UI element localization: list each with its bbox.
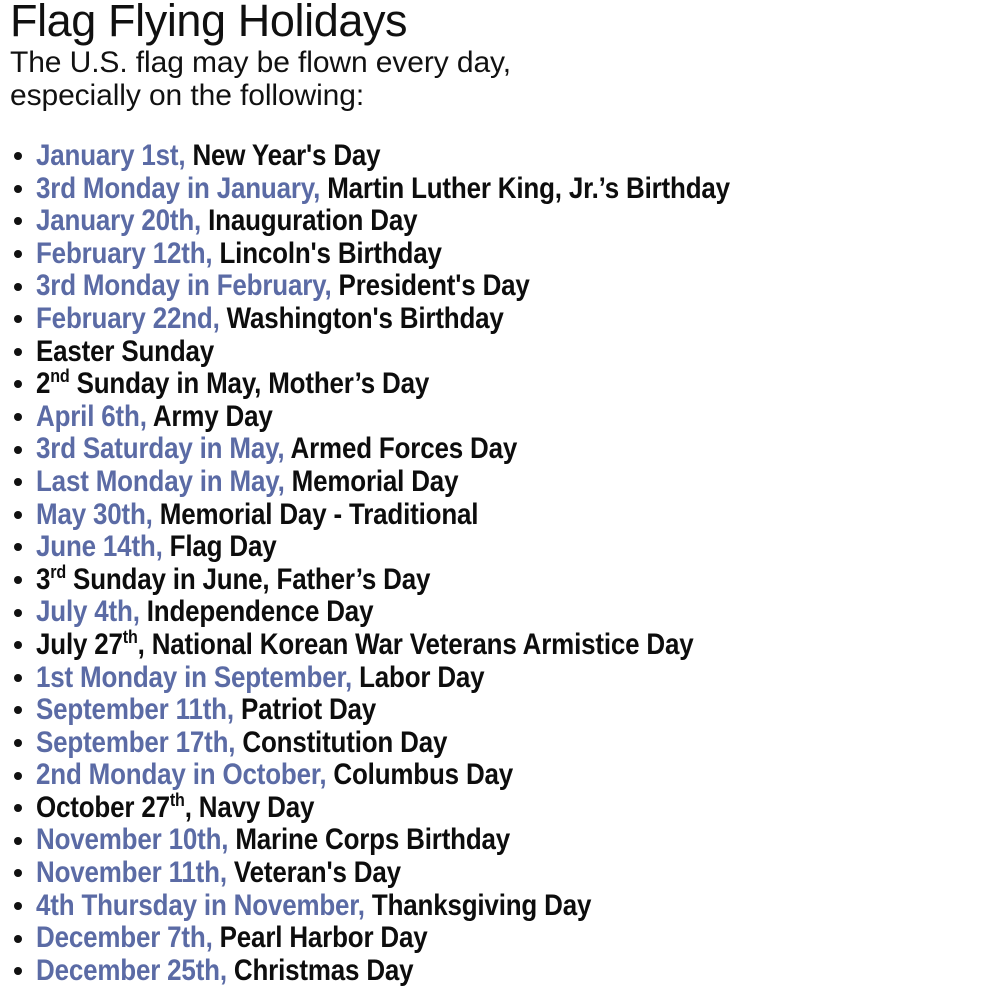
holiday-name: Washington's Birthday: [227, 302, 504, 335]
holiday-date: July 4th,: [36, 595, 140, 628]
bullet-icon: [14, 935, 22, 943]
bullet-icon: [14, 413, 22, 421]
holiday-name: Army Day: [153, 400, 273, 433]
bullet-icon: [14, 609, 22, 617]
bullet-icon: [14, 641, 22, 649]
list-item: 2nd Monday in October, Columbus Day: [10, 759, 1000, 792]
holiday-date-prefix: 3: [36, 563, 50, 596]
bullet-icon: [14, 804, 22, 812]
holiday-name: Thanksgiving Day: [372, 889, 591, 922]
subtitle-line-1: The U.S. flag may be flown every day,: [10, 46, 990, 79]
holiday-date: September 11th,: [36, 693, 234, 726]
list-item-text: 3rd Monday in February, President's Day: [36, 270, 530, 303]
list-item: June 14th, Flag Day: [10, 531, 1000, 564]
list-item: 3rd Sunday in June, Father’s Day: [10, 564, 1000, 597]
list-item: December 7th, Pearl Harbor Day: [10, 922, 1000, 955]
list-item-text: 3rd Saturday in May, Armed Forces Day: [36, 433, 517, 466]
list-item-text: October 27th, Navy Day: [36, 792, 314, 825]
holiday-name: Martin Luther King, Jr.’s Birthday: [327, 172, 730, 205]
holiday-name: Independence Day: [147, 595, 374, 628]
list-item-text: November 10th, Marine Corps Birthday: [36, 824, 510, 857]
list-item: February 22nd, Washington's Birthday: [10, 303, 1000, 336]
list-item-text: November 11th, Veteran's Day: [36, 857, 401, 890]
holiday-date: September 17th,: [36, 726, 235, 759]
list-item-text: January 1st, New Year's Day: [36, 140, 380, 173]
bullet-icon: [14, 706, 22, 714]
list-item-text: 1st Monday in September, Labor Day: [36, 662, 484, 695]
holiday-date: April 6th,: [36, 400, 147, 433]
holiday-name: Sunday in June, Father’s Day: [66, 563, 430, 596]
list-item-text: 2nd Sunday in May, Mother’s Day: [36, 368, 429, 401]
list-item: 3rd Monday in February, President's Day: [10, 270, 1000, 303]
bullet-icon: [14, 739, 22, 747]
list-item: November 11th, Veteran's Day: [10, 857, 1000, 890]
holiday-date: 3rd Saturday in May,: [36, 432, 284, 465]
holiday-date: November 10th,: [36, 823, 228, 856]
bullet-icon: [14, 869, 22, 877]
holiday-name: Labor Day: [359, 661, 484, 694]
holiday-list: January 1st, New Year's Day3rd Monday in…: [10, 140, 1000, 987]
bullet-icon: [14, 576, 22, 584]
bullet-icon: [14, 902, 22, 910]
list-item: September 11th, Patriot Day: [10, 694, 1000, 727]
holiday-date: February 22nd,: [36, 302, 220, 335]
list-item: Last Monday in May, Memorial Day: [10, 466, 1000, 499]
bullet-icon: [14, 772, 22, 780]
holiday-date: February 12th,: [36, 237, 212, 270]
list-item-text: December 7th, Pearl Harbor Day: [36, 922, 428, 955]
list-item: September 17th, Constitution Day: [10, 727, 1000, 760]
holiday-date: January 1st,: [36, 139, 185, 172]
list-item: 1st Monday in September, Labor Day: [10, 662, 1000, 695]
holiday-name: , National Korean War Veterans Armistice…: [138, 628, 694, 661]
holiday-name: Veteran's Day: [234, 856, 401, 889]
bullet-icon: [14, 446, 22, 454]
bullet-icon: [14, 283, 22, 291]
holiday-date: June 14th,: [36, 530, 163, 563]
holiday-name: Sunday in May, Mother’s Day: [70, 367, 430, 400]
list-item-text: February 22nd, Washington's Birthday: [36, 303, 504, 336]
list-item: 2nd Sunday in May, Mother’s Day: [10, 368, 1000, 401]
list-item: 4th Thursday in November, Thanksgiving D…: [10, 890, 1000, 923]
holiday-name: Armed Forces Day: [291, 432, 518, 465]
list-item: July 27th, National Korean War Veterans …: [10, 629, 1000, 662]
list-item-text: April 6th, Army Day: [36, 401, 273, 434]
ordinal-superscript: rd: [50, 561, 66, 582]
holiday-date-prefix: July 27: [36, 628, 123, 661]
holiday-name: , Navy Day: [185, 791, 315, 824]
document-page: Flag Flying Holidays The U.S. flag may b…: [0, 0, 1000, 1000]
ordinal-superscript: th: [123, 626, 138, 647]
holiday-date: 3rd Monday in February,: [36, 269, 332, 302]
list-item: December 25th, Christmas Day: [10, 955, 1000, 988]
holiday-date: November 11th,: [36, 856, 227, 889]
holiday-name: Flag Day: [170, 530, 277, 563]
holiday-date: 2nd Monday in October,: [36, 758, 326, 791]
list-item-text: September 11th, Patriot Day: [36, 694, 376, 727]
list-item-text: July 27th, National Korean War Veterans …: [36, 629, 694, 662]
list-item-text: July 4th, Independence Day: [36, 596, 373, 629]
holiday-date: May 30th,: [36, 498, 153, 531]
holiday-name: Patriot Day: [241, 693, 376, 726]
holiday-name: President's Day: [339, 269, 530, 302]
bullet-icon: [14, 217, 22, 225]
holiday-name: Lincoln's Birthday: [219, 237, 441, 270]
list-item-text: Last Monday in May, Memorial Day: [36, 466, 458, 499]
list-item: April 6th, Army Day: [10, 401, 1000, 434]
list-item: February 12th, Lincoln's Birthday: [10, 238, 1000, 271]
bullet-icon: [14, 478, 22, 486]
bullet-icon: [14, 315, 22, 323]
list-item: 3rd Monday in January, Martin Luther Kin…: [10, 173, 1000, 206]
bullet-icon: [14, 511, 22, 519]
ordinal-superscript: th: [170, 789, 185, 810]
list-item-text: 3rd Monday in January, Martin Luther Kin…: [36, 173, 730, 206]
bullet-icon: [14, 674, 22, 682]
holiday-date: 3rd Monday in January,: [36, 172, 320, 205]
list-item: November 10th, Marine Corps Birthday: [10, 824, 1000, 857]
bullet-icon: [14, 543, 22, 551]
holiday-date: 1st Monday in September,: [36, 661, 352, 694]
list-item-text: February 12th, Lincoln's Birthday: [36, 238, 442, 271]
holiday-date: December 7th,: [36, 921, 213, 954]
holiday-date: January 20th,: [36, 204, 201, 237]
list-item: May 30th, Memorial Day - Traditional: [10, 499, 1000, 532]
list-item: Easter Sunday: [10, 336, 1000, 369]
holiday-name: New Year's Day: [192, 139, 380, 172]
holiday-name: Memorial Day - Traditional: [160, 498, 479, 531]
list-item: July 4th, Independence Day: [10, 596, 1000, 629]
list-item-text: June 14th, Flag Day: [36, 531, 276, 564]
list-item: October 27th, Navy Day: [10, 792, 1000, 825]
list-item-text: December 25th, Christmas Day: [36, 955, 413, 988]
bullet-icon: [14, 348, 22, 356]
holiday-name: Constitution Day: [242, 726, 447, 759]
list-item-text: 4th Thursday in November, Thanksgiving D…: [36, 890, 591, 923]
list-item: 3rd Saturday in May, Armed Forces Day: [10, 433, 1000, 466]
list-item: January 1st, New Year's Day: [10, 140, 1000, 173]
list-item-text: Easter Sunday: [36, 336, 214, 369]
document-header: Flag Flying Holidays The U.S. flag may b…: [10, 0, 990, 112]
bullet-icon: [14, 250, 22, 258]
holiday-name: Christmas Day: [234, 954, 414, 987]
list-item-text: 3rd Sunday in June, Father’s Day: [36, 564, 430, 597]
holiday-name: Columbus Day: [333, 758, 513, 791]
holiday-name: Marine Corps Birthday: [235, 823, 510, 856]
holiday-date: Last Monday in May,: [36, 465, 285, 498]
ordinal-superscript: nd: [50, 365, 69, 386]
list-item-text: January 20th, Inauguration Day: [36, 205, 417, 238]
bullet-icon: [14, 837, 22, 845]
bullet-icon: [14, 380, 22, 388]
holiday-name: Pearl Harbor Day: [220, 921, 428, 954]
holiday-date: December 25th,: [36, 954, 227, 987]
bullet-icon: [14, 967, 22, 975]
holiday-name: Inauguration Day: [208, 204, 417, 237]
holiday-name: Easter Sunday: [36, 335, 214, 368]
holiday-name: Memorial Day: [292, 465, 459, 498]
holiday-date-prefix: 2: [36, 367, 50, 400]
bullet-icon: [14, 152, 22, 160]
list-item-text: May 30th, Memorial Day - Traditional: [36, 499, 478, 532]
list-item-text: September 17th, Constitution Day: [36, 727, 447, 760]
list-item: January 20th, Inauguration Day: [10, 205, 1000, 238]
subtitle-line-2: especially on the following:: [10, 79, 990, 112]
bullet-icon: [14, 185, 22, 193]
holiday-date: 4th Thursday in November,: [36, 889, 365, 922]
page-title: Flag Flying Holidays: [10, 0, 990, 46]
holiday-date-prefix: October 27: [36, 791, 170, 824]
list-item-text: 2nd Monday in October, Columbus Day: [36, 759, 513, 792]
